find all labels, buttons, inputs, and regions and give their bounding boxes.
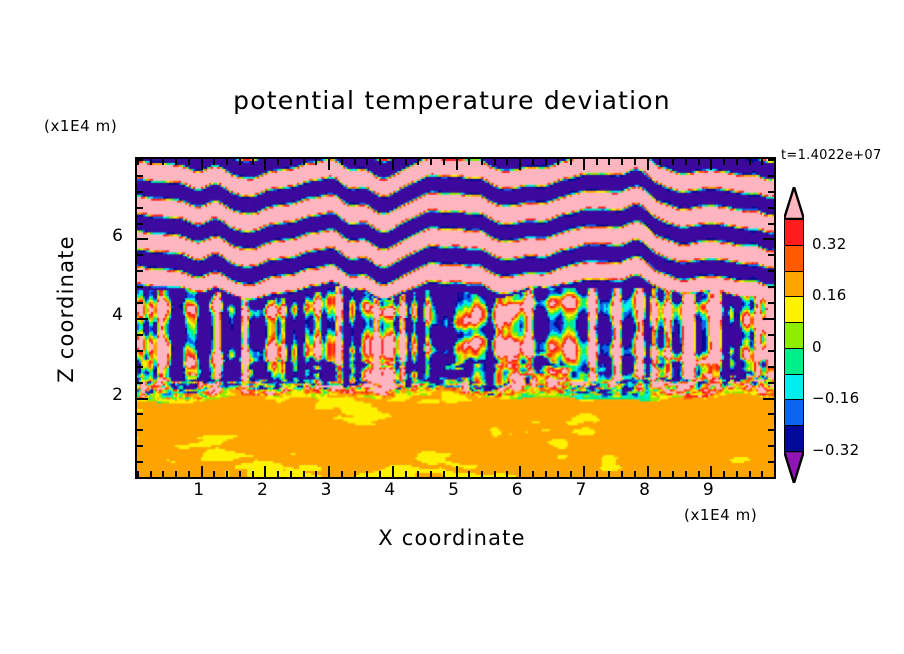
colorbar-band [784, 399, 804, 426]
y-unit-label: (x1E4 m) [44, 117, 117, 135]
x-axis-label: X coordinate [0, 526, 904, 550]
colorbar-band [784, 271, 804, 298]
colorbar-tick-label: 0.16 [812, 286, 847, 304]
colorbar-band [784, 425, 804, 452]
temperature-deviation-field [137, 159, 774, 477]
colorbar-tick-label: 0 [812, 338, 822, 356]
x-tick-label: 6 [497, 480, 537, 500]
contour-plot-area [135, 157, 776, 479]
time-annotation: t=1.4022e+07 [781, 148, 882, 163]
colorbar [784, 219, 804, 451]
colorbar-band [784, 374, 804, 401]
x-unit-label: (x1E4 m) [684, 506, 757, 524]
colorbar-tick-label: 0.32 [812, 235, 847, 253]
colorbar-over-arrow [784, 187, 804, 219]
colorbar-band [784, 296, 804, 323]
x-tick-label: 8 [625, 480, 665, 500]
colorbar-band [784, 245, 804, 272]
page-title: potential temperature deviation [0, 86, 904, 115]
x-tick-label: 4 [370, 480, 410, 500]
colorbar-band [784, 322, 804, 349]
x-tick-label: 1 [179, 480, 219, 500]
y-axis-label: Z coordinate [54, 199, 78, 419]
x-tick-label: 7 [561, 480, 601, 500]
x-tick-label: 3 [306, 480, 346, 500]
x-tick-label: 5 [434, 480, 474, 500]
figure-canvas: potential temperature deviation (x1E4 m)… [0, 0, 904, 654]
colorbar-band [784, 219, 804, 246]
colorbar-tick-label: −0.32 [812, 441, 859, 459]
colorbar-tick-label: −0.16 [812, 389, 859, 407]
y-tick-label: 4 [97, 305, 123, 325]
colorbar-band [784, 348, 804, 375]
y-tick-label: 2 [97, 385, 123, 405]
x-tick-label: 2 [242, 480, 282, 500]
x-tick-label: 9 [688, 480, 728, 500]
y-tick-label: 6 [97, 226, 123, 246]
colorbar-under-arrow [784, 451, 804, 483]
